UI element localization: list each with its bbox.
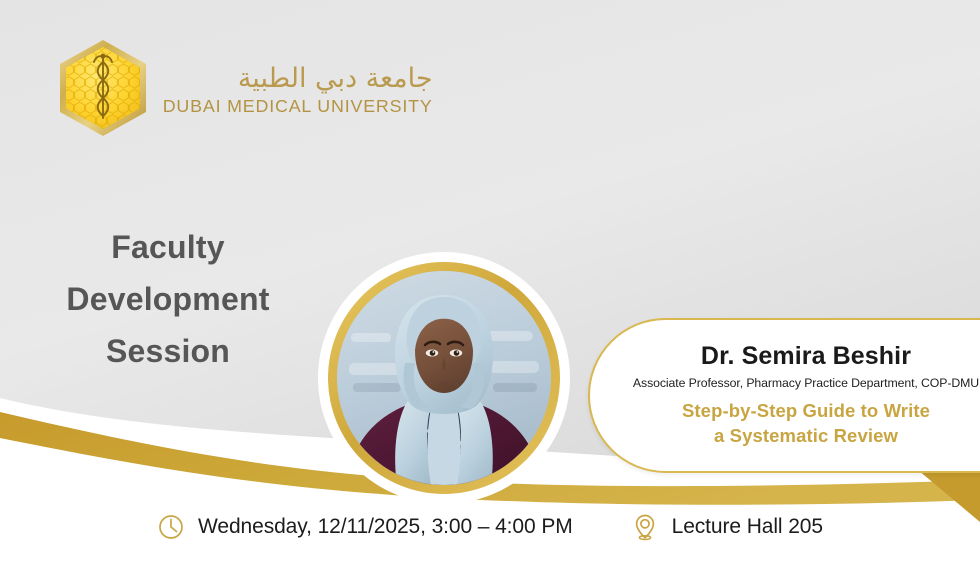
page-title: Faculty Development Session xyxy=(18,222,318,377)
clock-icon xyxy=(157,512,185,542)
logo-english-name: DUBAI MEDICAL UNIVERSITY xyxy=(163,96,433,117)
speaker-name: Dr. Semira Beshir xyxy=(701,343,911,371)
portrait-photo xyxy=(337,271,551,485)
topic-line-1: Step-by-Step Guide to Write xyxy=(682,399,930,423)
event-details-bar: Wednesday, 12/11/2025, 3:00 – 4:00 PM Le… xyxy=(0,512,980,542)
portrait-image xyxy=(337,271,551,485)
title-line-2: Development xyxy=(18,274,318,326)
speaker-card: Dr. Semira Beshir Associate Professor, P… xyxy=(588,318,980,473)
title-line-3: Session xyxy=(18,326,318,378)
event-poster: جامعة دبي الطبية DUBAI MEDICAL UNIVERSIT… xyxy=(0,0,980,588)
event-location-text: Lecture Hall 205 xyxy=(672,515,823,539)
topic-line-2: a Systematic Review xyxy=(682,424,930,448)
title-line-1: Faculty xyxy=(18,222,318,274)
event-datetime-text: Wednesday, 12/11/2025, 3:00 – 4:00 PM xyxy=(198,515,573,539)
logo-arabic-name: جامعة دبي الطبية xyxy=(238,63,433,94)
speaker-role: Associate Professor, Pharmacy Practice D… xyxy=(633,376,979,390)
dmu-logo: جامعة دبي الطبية DUBAI MEDICAL UNIVERSIT… xyxy=(52,38,433,138)
session-topic: Step-by-Step Guide to Write a Systematic… xyxy=(682,399,930,448)
event-datetime: Wednesday, 12/11/2025, 3:00 – 4:00 PM xyxy=(157,512,573,542)
hexagon-honeycomb-caduceus-icon xyxy=(52,38,154,138)
speaker-portrait xyxy=(318,252,570,504)
map-pin-icon xyxy=(631,512,659,542)
event-location: Lecture Hall 205 xyxy=(631,512,823,542)
